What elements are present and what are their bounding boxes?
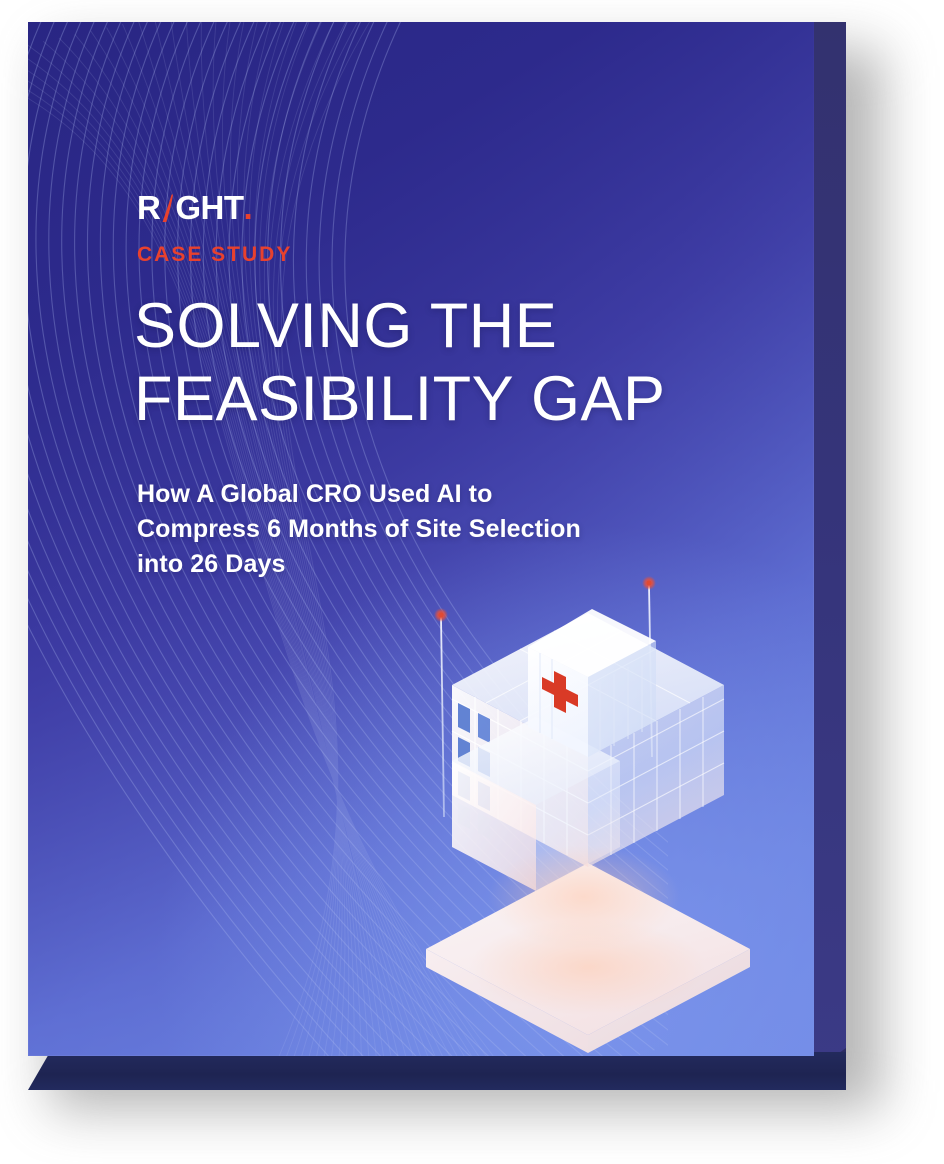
logo-period: . bbox=[244, 189, 253, 227]
book-front-cover: R GHT . CASE STUDY SOLVING THE FEASIBILI… bbox=[28, 22, 814, 1056]
cover-subtitle-line-2: Compress 6 Months of Site Selection bbox=[137, 512, 727, 547]
cover-title: SOLVING THE FEASIBILITY GAP bbox=[134, 290, 794, 436]
logo-lead-letter: R bbox=[137, 189, 160, 227]
book-side-edge bbox=[810, 22, 846, 1074]
screenshot-canvas: R GHT . CASE STUDY SOLVING THE FEASIBILI… bbox=[0, 0, 944, 1164]
isometric-hospital-illustration bbox=[388, 567, 788, 1056]
logo-rest-letters: GHT bbox=[175, 189, 243, 227]
eyebrow-label: CASE STUDY bbox=[137, 243, 292, 267]
cover-title-line-2: FEASIBILITY GAP bbox=[134, 363, 794, 436]
cover-subtitle-line-1: How A Global CRO Used AI to bbox=[137, 477, 727, 512]
cover-title-line-1: SOLVING THE bbox=[134, 290, 794, 363]
book-mockup: R GHT . CASE STUDY SOLVING THE FEASIBILI… bbox=[28, 22, 873, 1097]
antenna-left bbox=[434, 608, 448, 817]
red-slash-mark-icon bbox=[161, 193, 174, 224]
book-bottom-edge bbox=[28, 1052, 846, 1090]
brand-logo: R GHT . bbox=[137, 189, 252, 227]
